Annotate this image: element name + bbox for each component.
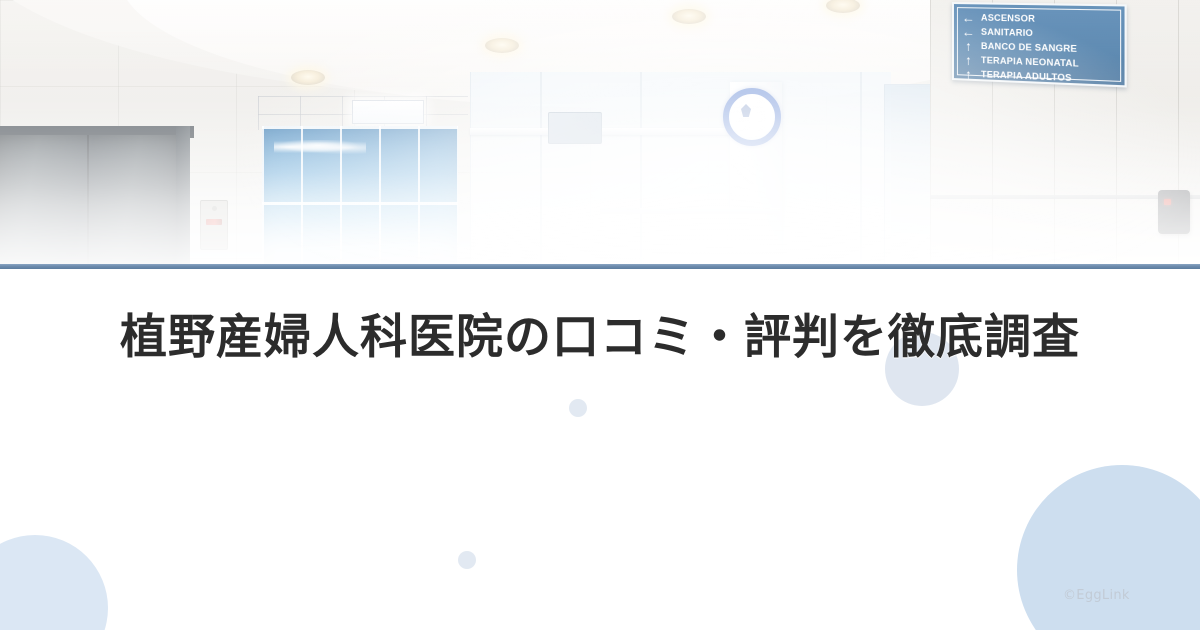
decor-circle-large-right [1017, 465, 1200, 630]
blue-sky-mural-panel [262, 126, 458, 264]
sign-label: SANITARIO [981, 27, 1033, 38]
glass-mullion [860, 72, 862, 264]
watermark: ©EggLink [1063, 588, 1130, 603]
downlight-icon [672, 9, 706, 24]
ceiling-light-panel [352, 100, 424, 124]
arrow-up-icon: ↑ [962, 53, 975, 67]
elevator-doors [0, 135, 182, 264]
mural-mullion-grid [262, 126, 458, 264]
decor-circle-large-left [0, 535, 108, 630]
hospital-directional-sign: ← ASCENSOR ← SANITARIO ↑ BANCO DE SANGRE… [952, 2, 1127, 88]
downlight-icon [291, 70, 325, 85]
access-card-reader [1158, 190, 1190, 234]
glass-partition [470, 72, 891, 264]
arrow-left-icon: ← [962, 25, 975, 38]
downlight-icon [485, 38, 519, 53]
hero-photo: ← ASCENSOR ← SANITARIO ↑ BANCO DE SANGRE… [0, 0, 1200, 264]
arrow-up-icon: ↑ [962, 67, 975, 81]
decor-dot-center-lower [458, 551, 476, 569]
sign-label: TERAPIA NEONATAL [981, 55, 1079, 69]
sign-inner-border: ← ASCENSOR ← SANITARIO ↑ BANCO DE SANGRE… [957, 7, 1121, 82]
floor-indicator-led [206, 219, 222, 225]
sign-label: BANCO DE SANGRE [981, 41, 1077, 54]
card-reader-led-icon [1164, 199, 1171, 205]
clinic-emblem-icon [723, 88, 781, 146]
call-button-icon [212, 206, 217, 211]
decor-dot-center-upper [569, 399, 587, 417]
arrow-up-icon: ↑ [962, 39, 975, 52]
elevator-call-panel [200, 200, 228, 250]
ogp-card: ← ASCENSOR ← SANITARIO ↑ BANCO DE SANGRE… [0, 0, 1200, 630]
elevator-jamb [176, 126, 190, 264]
glass-mullion [640, 72, 642, 264]
hospital-lobby-scene: ← ASCENSOR ← SANITARIO ↑ BANCO DE SANGRE… [0, 0, 1200, 264]
wall-monitor [548, 112, 602, 144]
page-title: 植野産婦人科医院の口コミ・評判を徹底調査 [0, 306, 1200, 370]
arrow-left-icon: ← [962, 11, 975, 24]
reception-desk-edge [600, 208, 780, 214]
sign-label: TERAPIA ADULTOS [981, 69, 1072, 83]
glass-mullion [540, 72, 542, 264]
sign-label: ASCENSOR [981, 13, 1035, 24]
